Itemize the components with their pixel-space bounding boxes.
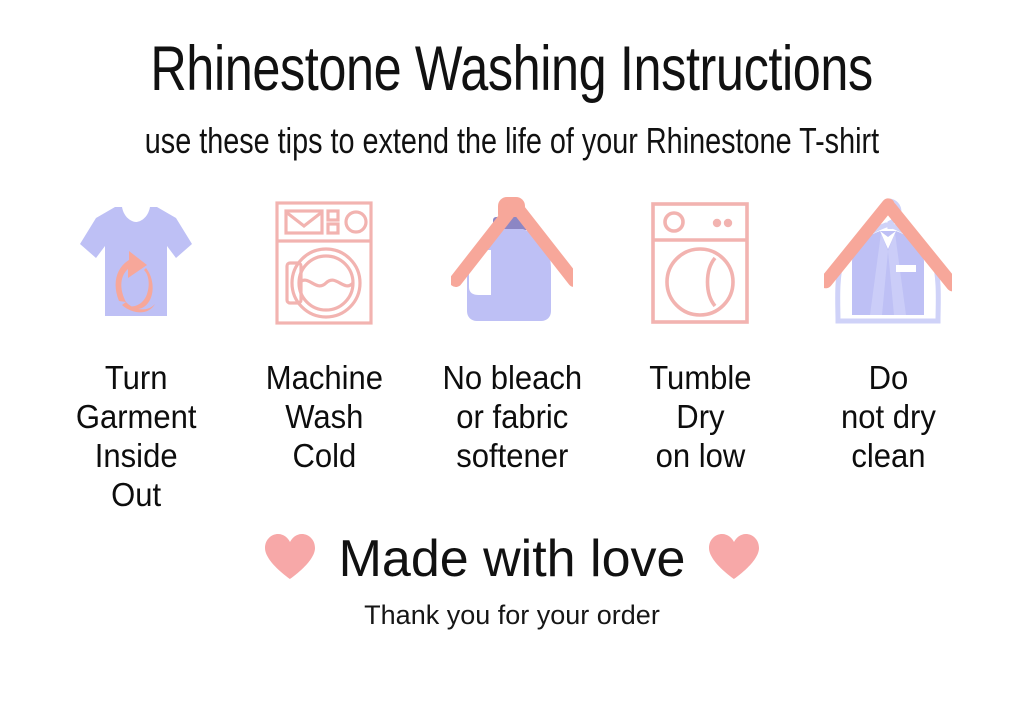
washing-instructions-card: Rhinestone Washing Instructions use thes… xyxy=(0,0,1024,724)
label-col-machine-wash-cold: Machine Wash Cold xyxy=(230,359,418,476)
made-with-love-row: Made with love xyxy=(263,533,762,586)
label-col-tumble-dry-low: Tumble Dry on low xyxy=(606,359,794,476)
label-col-turn-inside-out: Turn Garment Inside Out xyxy=(42,359,230,515)
instruction-item-no-dry-clean xyxy=(794,193,982,333)
no-dry-clean-icon xyxy=(824,193,952,333)
page-title: Rhinestone Washing Instructions xyxy=(151,38,874,101)
instruction-label: Tumble Dry on low xyxy=(649,359,751,476)
label-col-no-dry-clean: Do not dry clean xyxy=(794,359,982,476)
instruction-label: Do not dry clean xyxy=(841,359,936,476)
tshirt-inside-out-icon xyxy=(72,193,200,333)
made-with-love-text: Made with love xyxy=(339,533,686,585)
thank-you-text: Thank you for your order xyxy=(364,602,660,629)
instruction-item-no-bleach xyxy=(418,193,606,333)
instruction-item-machine-wash-cold xyxy=(230,193,418,333)
heart-icon xyxy=(263,533,317,586)
page-subtitle: use these tips to extend the life of you… xyxy=(145,123,879,159)
instruction-item-tumble-dry-low xyxy=(606,193,794,333)
instruction-label: Machine Wash Cold xyxy=(265,359,382,476)
washing-machine-icon xyxy=(268,193,380,333)
tumble-dryer-icon xyxy=(645,193,755,333)
instruction-label: Turn Garment Inside Out xyxy=(76,359,197,515)
no-bleach-bottle-icon xyxy=(451,193,573,333)
instruction-icon-row xyxy=(0,193,1024,333)
instruction-label: No bleach or fabric softener xyxy=(442,359,582,476)
label-col-no-bleach: No bleach or fabric softener xyxy=(418,359,606,476)
instruction-label-row: Turn Garment Inside Out Machine Wash Col… xyxy=(0,359,1024,515)
heart-icon xyxy=(707,533,761,586)
instruction-item-turn-inside-out xyxy=(42,193,230,333)
